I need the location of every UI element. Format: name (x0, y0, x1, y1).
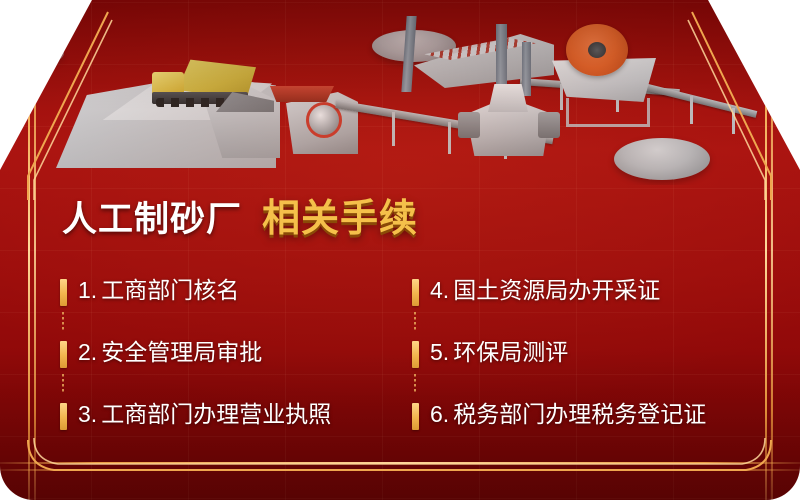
vsi-motor-icon (458, 112, 480, 138)
dump-truck-cab-icon (152, 72, 184, 96)
gravel-pile-icon (0, 40, 64, 66)
list-item-text: 1.工商部门核名 (78, 272, 239, 308)
conveyor-support-leg (504, 131, 507, 159)
jaw-crusher-icon (286, 92, 358, 154)
conveyor-support-leg (392, 112, 395, 146)
concrete-ramp-icon (56, 72, 276, 168)
title-primary: 人工制砂厂 (62, 200, 242, 239)
gold-trim-line-left (28, 0, 30, 500)
gravel-pile-icon (614, 138, 710, 180)
list-item-number: 2. (78, 339, 97, 365)
list-item-label: 国土资源局办开采证 (453, 277, 660, 303)
list-item-text: 6.税务部门办理税务登记证 (430, 396, 706, 432)
list-item-text: 5.环保局测评 (430, 334, 568, 370)
vsi-motor-icon (538, 112, 560, 138)
list-bullet-icon (60, 279, 67, 306)
screen-support-tower (401, 16, 416, 92)
list-item-label: 安全管理局审批 (101, 339, 262, 365)
conveyor-support-leg (448, 122, 451, 154)
list-item-number: 5. (430, 339, 449, 365)
list-connector-dots-icon (62, 312, 64, 332)
screen-deck-icon (424, 38, 536, 60)
sand-washer-wheel-hub-icon (588, 42, 606, 58)
crusher-hopper-icon (270, 86, 334, 102)
conveyor-support-leg (616, 88, 619, 112)
list-bullet-icon (412, 403, 419, 430)
conveyor-support-leg (732, 108, 735, 134)
poster-title: 人工制砂厂相关手续 (62, 200, 418, 238)
screen-support-tower (522, 42, 531, 96)
dump-truck-wheels-icon (156, 98, 244, 107)
washer-support-frame (566, 98, 650, 127)
gold-trim-line-right-inner (771, 0, 773, 500)
vsi-sand-maker-icon (466, 98, 550, 156)
ramp-top-surface (92, 72, 272, 120)
sand-washer-tub-icon (552, 58, 656, 102)
list-item-text: 2.安全管理局审批 (78, 334, 262, 370)
belt-conveyor-icon (520, 78, 680, 96)
list-bullet-icon (60, 403, 67, 430)
belt-conveyor-icon (335, 100, 553, 144)
belt-conveyor-icon (639, 82, 757, 118)
ramp-feed-chute (206, 86, 280, 158)
sand-plant-illustration (0, 0, 800, 185)
list-bullet-icon (412, 279, 419, 306)
list-item-label: 工商部门核名 (101, 277, 239, 303)
gold-trim-line-left-inner (34, 0, 36, 500)
list-item-text: 3.工商部门办理营业执照 (78, 396, 331, 432)
sand-washer-wheel-icon (566, 24, 628, 76)
list-item-number: 6. (430, 401, 449, 427)
gravel-pile-icon (372, 30, 456, 62)
list-item-text: 4.国土资源局办开采证 (430, 272, 660, 308)
list-connector-dots-icon (62, 374, 64, 394)
list-bullet-icon (60, 341, 67, 368)
list-item-number: 4. (430, 277, 449, 303)
list-item-label: 工商部门办理营业执照 (101, 401, 331, 427)
poster-stage: 人工制砂厂相关手续 1.工商部门核名 2.安全管理局审批 3.工商部门办理营业执… (0, 0, 800, 500)
list-item-label: 环保局测评 (453, 339, 568, 365)
list-item-label: 税务部门办理税务登记证 (453, 401, 706, 427)
screen-support-tower (496, 24, 507, 96)
vsi-feed-cone-icon (488, 84, 528, 112)
dump-truck-chassis-icon (152, 92, 248, 104)
gold-trim-line-bottom-inner (0, 469, 800, 471)
list-connector-dots-icon (414, 374, 416, 394)
gold-trim-line-bottom (0, 462, 800, 464)
list-item-number: 1. (78, 277, 97, 303)
list-connector-dots-icon (414, 312, 416, 332)
vibrating-screen-icon (414, 34, 554, 88)
conveyor-support-leg (560, 84, 563, 110)
title-highlight: 相关手续 (262, 198, 418, 240)
list-bullet-icon (412, 341, 419, 368)
crusher-flywheel-icon (306, 102, 342, 138)
dump-truck-bed-icon (174, 58, 256, 100)
discharged-material-icon (216, 92, 274, 112)
gold-trim-line-right (765, 0, 767, 500)
list-item-number: 3. (78, 401, 97, 427)
conveyor-support-leg (690, 96, 693, 124)
